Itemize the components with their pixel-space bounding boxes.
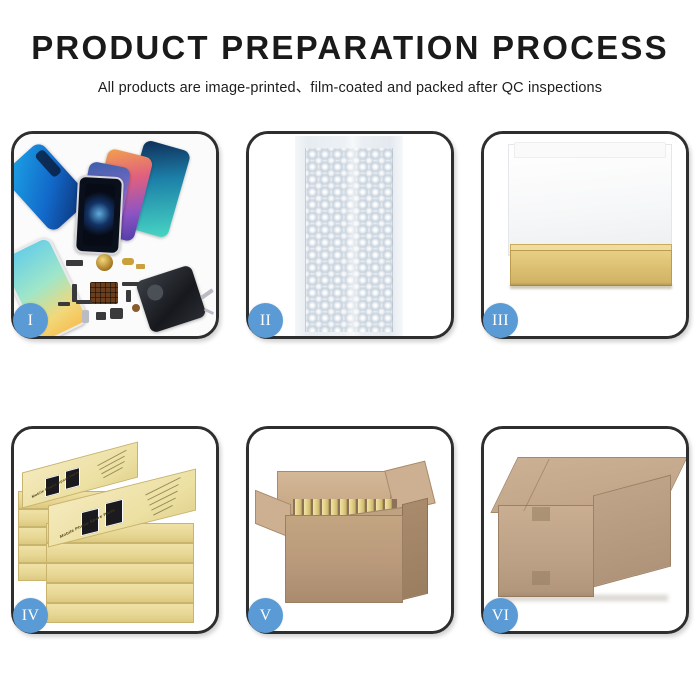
step-panel-4[interactable]: Mobile Phone Spare Parts Mobile Phone Sp… [11, 426, 219, 634]
small-part [110, 308, 123, 319]
phone-front-black-image [74, 175, 124, 255]
product-preparation-infographic: PRODUCT PREPARATION PROCESS All products… [0, 0, 700, 700]
stacked-box [46, 543, 194, 563]
steps-grid: I II III [11, 131, 690, 634]
film-highlight [345, 134, 361, 336]
small-part [126, 290, 131, 302]
step-1-image [14, 134, 216, 336]
step-badge-4: IV [13, 598, 48, 633]
small-part [58, 302, 70, 306]
small-part [82, 310, 89, 323]
small-part [136, 264, 145, 269]
page-subtitle: All products are image-printed、film-coat… [0, 76, 700, 97]
step-badge-1: I [13, 303, 48, 338]
phone-dark-backcover-image [135, 264, 207, 333]
step-badge-6: VI [483, 598, 518, 633]
small-part [132, 304, 140, 312]
stacked-box [46, 563, 194, 583]
step-2-image [249, 134, 451, 336]
step-panel-3[interactable]: III [481, 131, 689, 339]
header: PRODUCT PREPARATION PROCESS All products… [0, 30, 700, 97]
step-badge-5: V [248, 598, 283, 633]
step-panel-5[interactable]: V [246, 426, 454, 634]
kraft-tray [510, 250, 672, 286]
step-panel-1[interactable]: I [11, 131, 219, 339]
small-part [66, 260, 83, 266]
step-panel-6[interactable]: VI [481, 426, 689, 634]
tool-part [204, 308, 214, 315]
stacked-box [46, 583, 194, 603]
carton-tape [532, 571, 550, 585]
step-3-image [484, 134, 686, 336]
small-part [96, 312, 106, 320]
stacked-box [46, 603, 194, 623]
tool-part [200, 288, 214, 299]
chip-array-part [90, 282, 118, 304]
step-6-image [484, 429, 686, 631]
tray-shadow [510, 284, 672, 289]
carton-shadow [500, 595, 668, 601]
small-part [122, 282, 140, 286]
carton-tape [532, 507, 550, 521]
white-box-lid-flap [514, 142, 666, 158]
speaker-coil-part [96, 254, 113, 271]
step-panel-2[interactable]: II [246, 131, 454, 339]
carton-front-panel [285, 515, 403, 603]
step-5-image [249, 429, 451, 631]
small-part [76, 300, 92, 304]
white-box-lid [508, 144, 672, 256]
step-badge-2: II [248, 303, 283, 338]
carton-side-panel [402, 498, 428, 600]
label-text-line [103, 467, 123, 478]
step-badge-3: III [483, 303, 518, 338]
small-part [122, 258, 134, 265]
sealed-carton-side [593, 475, 671, 588]
step-4-image: Mobile Phone Spare Parts Mobile Phone Sp… [14, 429, 216, 631]
page-title: PRODUCT PREPARATION PROCESS [0, 30, 700, 67]
